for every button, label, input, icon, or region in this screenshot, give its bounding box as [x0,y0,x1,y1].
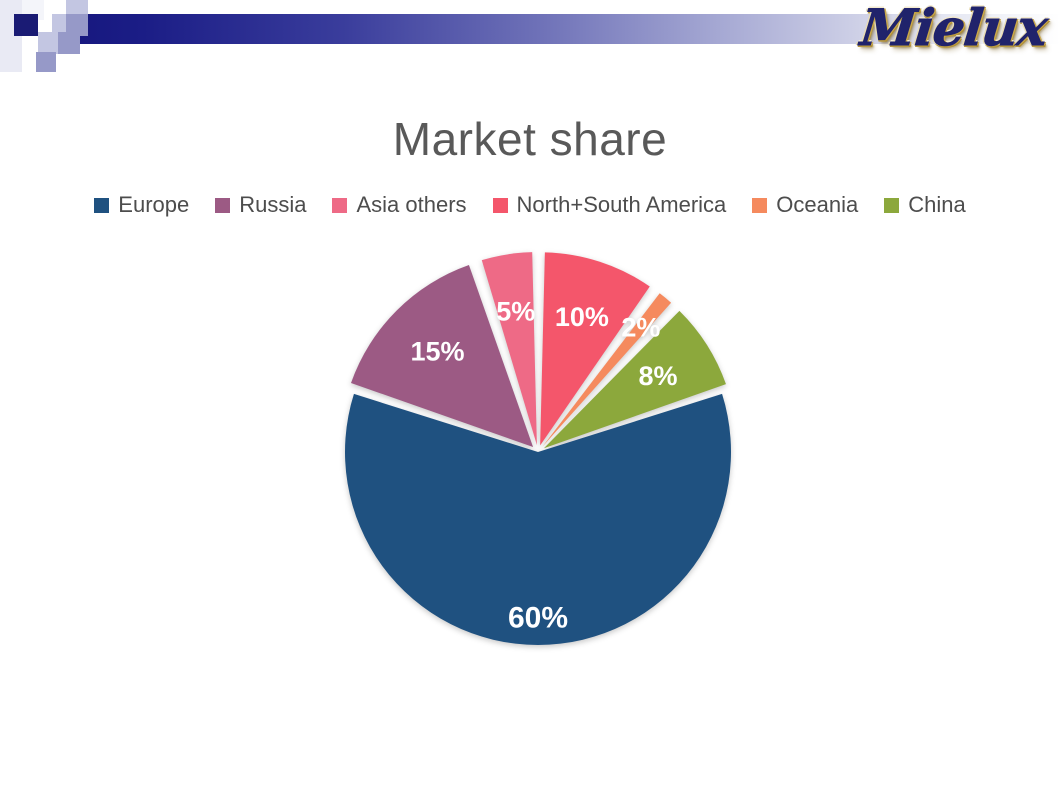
pie-slice-label-asia-others: 5% [496,297,535,327]
pie-chart-svg: 10%2%8%60%15%5% [330,250,750,670]
legend-item-asia-others[interactable]: Asia others [332,192,466,218]
square-9 [58,32,80,54]
pie-slices [345,252,731,645]
legend-item-label: North+South America [517,192,727,218]
legend-item-europe[interactable]: Europe [94,192,189,218]
legend-swatch-icon [493,198,508,213]
legend-swatch-icon [94,198,109,213]
legend-swatch-icon [884,198,899,213]
brand-logo: Mielux [858,0,1050,57]
page-header: Mielux [0,0,1060,72]
legend-item-oceania[interactable]: Oceania [752,192,858,218]
legend-swatch-icon [215,198,230,213]
pie-slice-label-europe: 60% [508,601,568,634]
pie-chart: 10%2%8%60%15%5% [330,250,750,670]
chart-title: Market share [0,112,1060,166]
legend-item-label: Europe [118,192,189,218]
pie-slice-label-north-south-america: 10% [555,302,609,332]
legend-item-label: Asia others [356,192,466,218]
legend-item-label: Oceania [776,192,858,218]
legend-item-north-south-america[interactable]: North+South America [493,192,727,218]
square-8 [38,32,58,54]
legend-item-label: Russia [239,192,306,218]
pie-slice-label-russia: 15% [410,337,464,367]
legend-swatch-icon [752,198,767,213]
square-4 [66,0,88,14]
pie-slice-label-oceania: 2% [621,313,660,343]
legend-item-china[interactable]: China [884,192,965,218]
legend-item-russia[interactable]: Russia [215,192,306,218]
legend-swatch-icon [332,198,347,213]
header-mosaic-decoration [0,0,150,72]
chart-legend: EuropeRussiaAsia othersNorth+South Ameri… [0,192,1060,218]
pie-slice-label-china: 8% [638,361,677,391]
legend-item-label: China [908,192,965,218]
square-10 [36,52,56,72]
square-5 [14,14,38,36]
square-1 [0,0,22,72]
